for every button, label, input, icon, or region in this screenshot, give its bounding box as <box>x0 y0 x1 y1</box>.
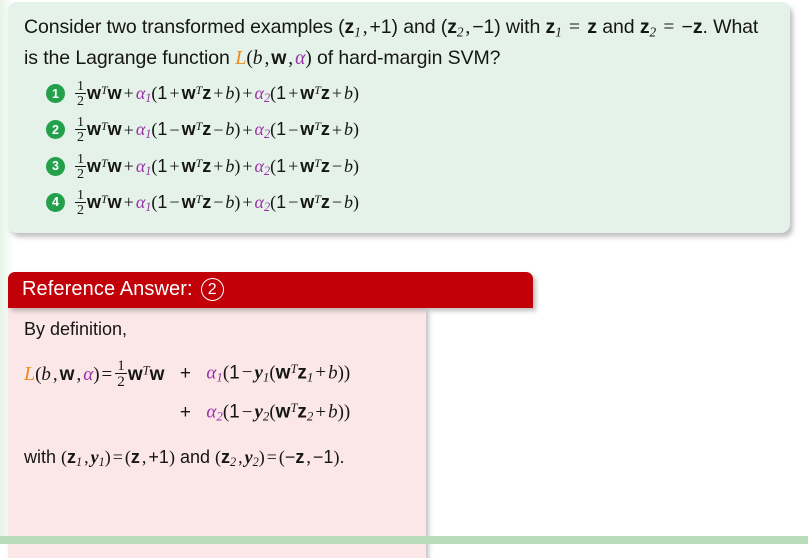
slide-bottom-bar <box>0 536 808 544</box>
derivation-lhs: L(b,w,α)=12wTw <box>24 358 164 389</box>
answer-intro-text: By definition, <box>24 319 410 340</box>
option-list: 1 12wTw+α1(1+wTz+b)+α2(1+wTz+b) 2 12wTw+… <box>24 79 774 216</box>
option-row[interactable]: 3 12wTw+α1(1+wTz+b)+α2(1+wTz−b) <box>46 152 774 181</box>
derivation-term-2: α2(1−y2(wTz2+b)) <box>206 401 350 424</box>
option-row[interactable]: 2 12wTw+α1(1−wTz−b)+α2(1−wTz+b) <box>46 115 774 144</box>
reference-answer-value: 2 <box>201 278 224 301</box>
option-formula-4: 12wTw+α1(1−wTz−b)+α2(1−wTz−b) <box>74 188 359 217</box>
derivation-line-1: L(b,w,α)=12wTw + α1(1−y1(wTz1+b)) <box>24 358 410 389</box>
option-formula-2: 12wTw+α1(1−wTz−b)+α2(1−wTz+b) <box>74 115 359 144</box>
derivation-plus-2: + <box>164 402 206 424</box>
option-row[interactable]: 1 12wTw+α1(1+wTz+b)+α2(1+wTz+b) <box>46 79 774 108</box>
option-formula-1: 12wTw+α1(1+wTz+b)+α2(1+wTz+b) <box>74 79 359 108</box>
derivation-term-1: α1(1−y1(wTz1+b)) <box>206 362 350 385</box>
derivation-plus-1: + <box>164 363 206 385</box>
option-bullet-4: 4 <box>46 193 65 212</box>
question-text: Consider two transformed examples (z1,+1… <box>24 14 774 72</box>
answer-closing-text: with (z1,y1)=(z,+1) and (z2,y2)=(−z,−1). <box>24 447 410 470</box>
option-bullet-3: 3 <box>46 157 65 176</box>
option-formula-3: 12wTw+α1(1+wTz+b)+α2(1+wTz−b) <box>74 152 359 181</box>
derivation-line-2: L(b,w,α)=12wTw + α2(1−y2(wTz2+b)) <box>24 397 410 428</box>
reference-answer-label: Reference Answer: <box>22 278 193 301</box>
reference-answer-header: Reference Answer: 2 <box>8 272 533 308</box>
option-bullet-1: 1 <box>46 84 65 103</box>
option-bullet-2: 2 <box>46 120 65 139</box>
question-block: Consider two transformed examples (z1,+1… <box>8 2 790 233</box>
reference-answer-block: Reference Answer: 2 By definition, L(b,w… <box>8 272 426 558</box>
reference-answer-body: By definition, L(b,w,α)=12wTw + α1(1−y1(… <box>8 308 426 558</box>
option-row[interactable]: 4 12wTw+α1(1−wTz−b)+α2(1−wTz−b) <box>46 188 774 217</box>
answer-derivation: L(b,w,α)=12wTw + α1(1−y1(wTz1+b)) L(b,w,… <box>24 358 410 429</box>
